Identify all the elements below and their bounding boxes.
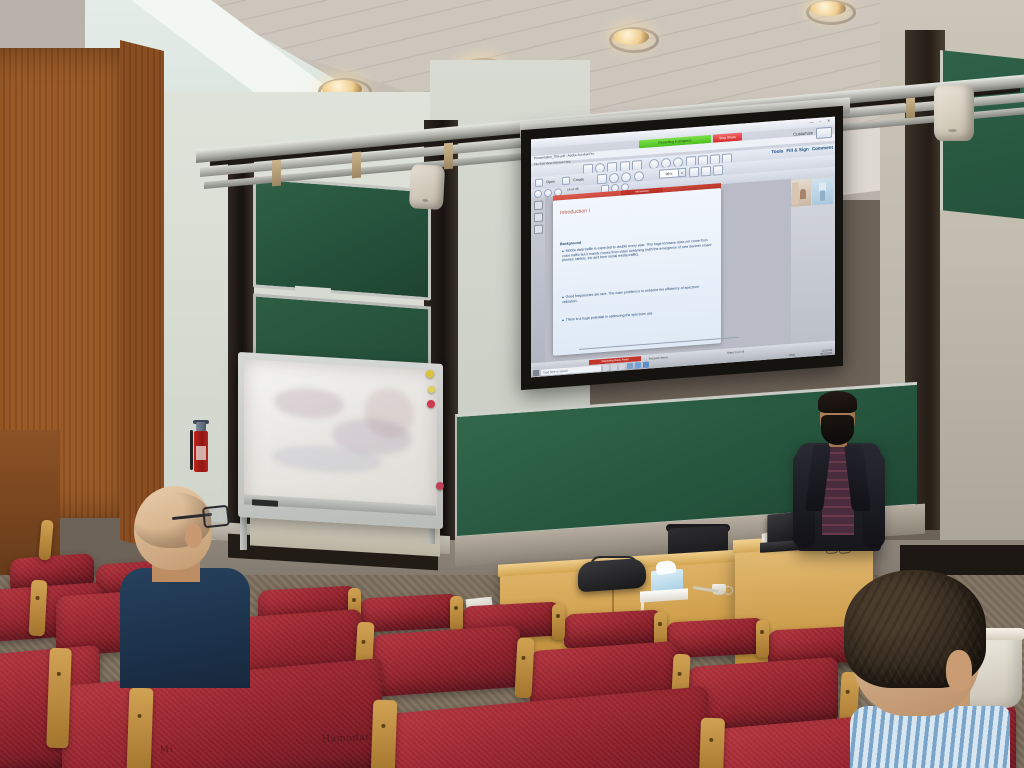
camera-thumbnail-2[interactable]	[812, 178, 833, 206]
browser-icon[interactable]	[619, 363, 625, 369]
slide-bullet-2: Good frequencies are rare. The main prob…	[562, 284, 714, 305]
tab-tools[interactable]: Tools	[771, 148, 783, 154]
slide-section-label: Background	[560, 241, 581, 247]
camera-thumbnail-1[interactable]	[791, 179, 811, 207]
seat-armrest	[514, 638, 534, 699]
slide-bullet-1: Mobile data traffic is expected to doubl…	[562, 238, 714, 263]
slide-page: Introduction I Background Mobile data tr…	[553, 188, 721, 356]
seat-back[interactable]	[666, 617, 764, 658]
attendee-left-glasses-lens	[202, 505, 230, 529]
navigation-pane	[531, 197, 545, 363]
explorer-icon[interactable]	[611, 364, 617, 370]
attachments-icon[interactable]	[534, 225, 543, 235]
rail-brace-7	[906, 98, 915, 119]
open-label: Open	[546, 179, 555, 184]
create-icon	[562, 176, 570, 185]
bookmarks-icon[interactable]	[534, 213, 543, 223]
zoom-level-input[interactable]: 96%	[659, 168, 679, 179]
seat-armrest	[552, 604, 565, 640]
rail-brace-3	[444, 143, 453, 170]
customize-toolbar-button[interactable]	[816, 127, 832, 139]
slide-title: Introduction I	[560, 208, 590, 216]
open-button[interactable]: Open	[535, 176, 559, 187]
folder-icon	[535, 178, 543, 187]
camera1-detail-b	[800, 189, 806, 199]
speaker-port-icon	[948, 129, 957, 132]
seat-graffiti: Mi	[160, 744, 174, 756]
magnet-red[interactable]	[427, 400, 435, 408]
camera2-detail-b	[820, 190, 825, 200]
projected-screen: — ▫ ✕ Recording in progress Stop Share P…	[531, 117, 835, 378]
attendee-right-ear	[946, 650, 972, 692]
start-button-icon[interactable]	[533, 370, 539, 376]
attendee-left-ear	[185, 524, 202, 548]
chalkboard-upper-left	[253, 176, 431, 300]
rail-brace-2	[352, 152, 361, 179]
whiteboard-surface[interactable]	[244, 359, 437, 515]
powerpoint-icon[interactable]	[643, 362, 649, 368]
seat-armrest	[756, 620, 769, 658]
wood-wall-edge	[120, 40, 164, 551]
black-bag	[578, 558, 646, 593]
seat-graffiti: Hamodar	[322, 731, 370, 745]
slide-bullet-3: There is a huge potential in optimizing …	[562, 307, 714, 323]
video-thumbnail-pane	[791, 176, 835, 344]
document-viewport: Introduction Introduction I Background M…	[531, 176, 835, 364]
magnet-pink[interactable]	[436, 482, 444, 490]
downlight-icon-4	[810, 1, 846, 16]
magnet-yellow-1[interactable]	[426, 370, 434, 378]
seat-armrest	[371, 700, 398, 768]
seat-back[interactable]	[360, 593, 458, 632]
page-indicator[interactable]: 14 of 45	[567, 187, 579, 192]
seat-armrest	[699, 718, 725, 768]
tissue-sheet	[655, 560, 677, 576]
speaker-port-icon	[422, 199, 428, 202]
wall-speaker-right	[934, 85, 974, 141]
create-label: Create	[573, 177, 584, 182]
chevron-down-icon[interactable]: ▾	[678, 168, 686, 178]
presenter-beard	[821, 415, 854, 445]
seat-armrest	[46, 648, 71, 749]
seat-armrest	[450, 596, 463, 632]
task-view-icon[interactable]	[603, 365, 609, 371]
downlight-icon-3	[613, 29, 649, 45]
attendee-left-body	[120, 568, 250, 688]
wall-speaker-left	[409, 164, 445, 210]
acrobat-icon[interactable]	[635, 362, 641, 368]
language-indicator[interactable]: ENG	[789, 354, 795, 357]
slide-footer-rule	[579, 337, 739, 350]
clock: 12:15 PM 09/11/2022	[820, 349, 832, 356]
whiteboard-smudge-1	[274, 386, 344, 420]
lecture-hall-photo: — ▫ ✕ Recording in progress Stop Share P…	[0, 0, 1024, 768]
presenter-hair	[818, 391, 857, 413]
rail-brace-1	[272, 160, 281, 187]
seat-back[interactable]	[372, 625, 520, 697]
magnet-yellow-2[interactable]	[428, 386, 435, 393]
fire-extinguisher-hose	[190, 430, 193, 470]
seat-armrest	[29, 580, 48, 637]
cup-handle	[724, 586, 733, 595]
teams-icon[interactable]	[627, 363, 633, 369]
thumbnails-icon[interactable]	[534, 201, 543, 211]
fire-extinguisher-label	[196, 446, 206, 460]
camera1-detail-a	[792, 182, 799, 205]
seat-armrest	[127, 688, 154, 768]
